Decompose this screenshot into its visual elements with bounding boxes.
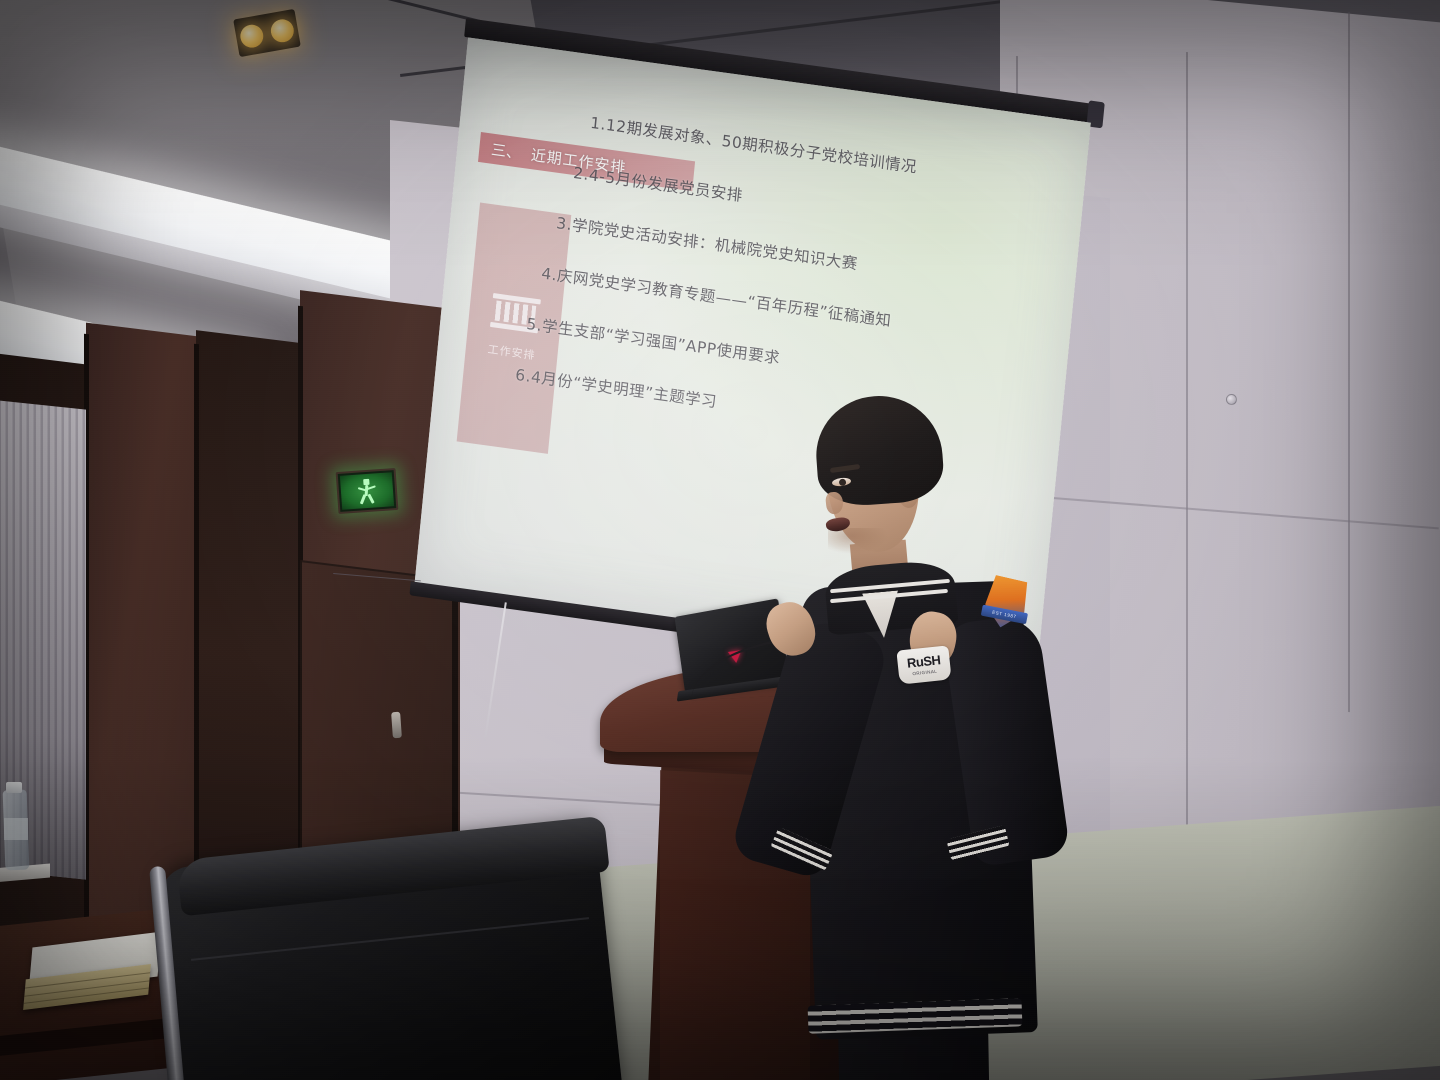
speaker-person: RuSH ORIGINAL EST 1987 <box>790 396 1090 1080</box>
wall-fixture-screw <box>1226 394 1237 405</box>
wall-panel-seam <box>1348 12 1350 712</box>
sleeve-patch-text: EST 1987 <box>992 610 1017 620</box>
slide-sidebar-caption: 工作安排 <box>487 341 536 363</box>
jacket-chest-patch: RuSH ORIGINAL <box>896 645 951 684</box>
light-bulb <box>269 17 296 44</box>
water-bottle-label <box>4 818 28 840</box>
presentation-room-photo: 三、 近期工作安排 工作安排 1.12期发展对象、50期积极分子党校培训情况 2… <box>0 0 1440 1080</box>
water-bottle-cap[interactable] <box>6 782 22 793</box>
slide-title-number: 三、 <box>490 138 522 163</box>
chest-patch-text: RuSH <box>906 653 941 669</box>
light-bulb <box>238 22 265 49</box>
running-person-icon <box>355 478 379 503</box>
speaker-hair <box>812 392 945 509</box>
chest-patch-subtext: ORIGINAL <box>912 669 937 677</box>
door-handle[interactable] <box>391 712 402 739</box>
wall-panel-seam <box>1186 52 1188 852</box>
black-leather-chair[interactable] <box>120 818 620 1080</box>
emergency-exit-sign <box>336 468 399 514</box>
face-shadow <box>828 528 888 554</box>
